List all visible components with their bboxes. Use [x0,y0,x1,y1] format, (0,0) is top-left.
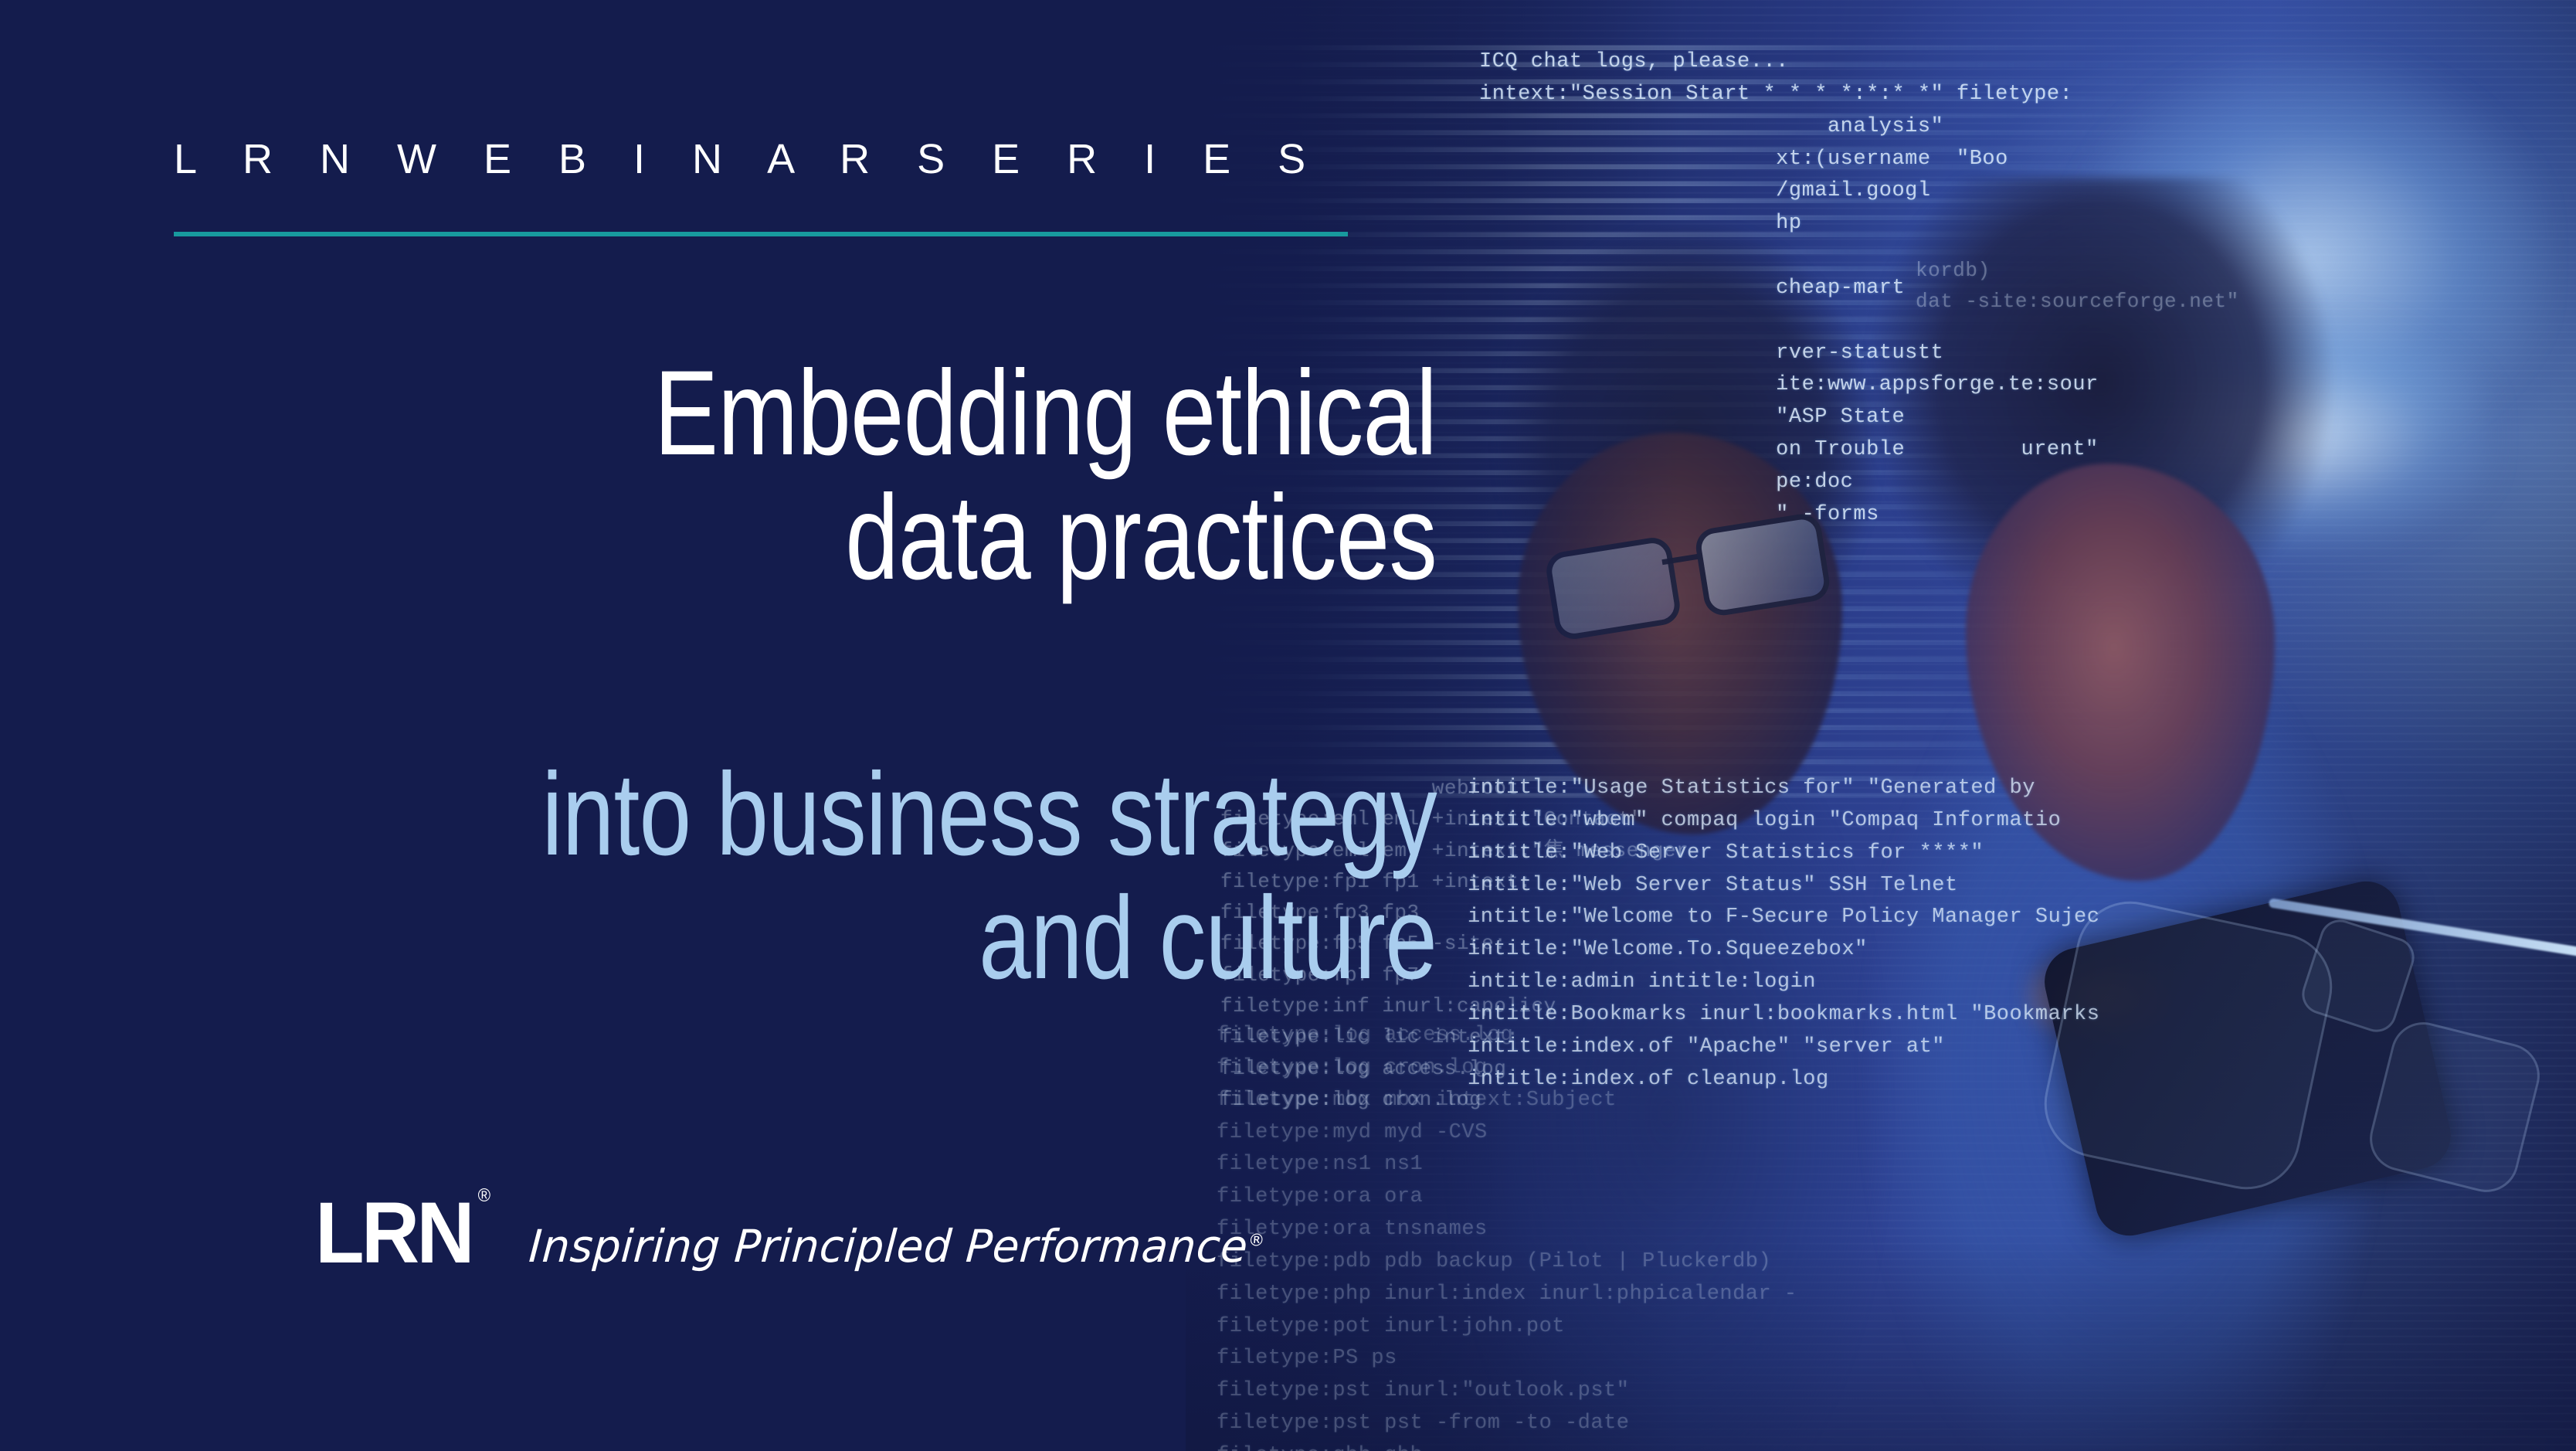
webinar-title-slide: ICQ chat logs, please... intext:"Session… [0,0,2576,1451]
page-subtitle: into business strategy and culture [349,753,1437,1000]
slide-content: L R N W E B I N A R S E R I E S Embeddin… [0,0,1437,1451]
lrn-tagline-text: Inspiring Principled Performance [528,1220,1250,1273]
page-title: Embedding ethical data practices [349,352,1437,600]
subhead-line-1: into business strategy [349,753,1437,877]
headline-line-2: data practices [349,476,1437,600]
lrn-tagline-registered-mark: ® [1247,1232,1266,1251]
lrn-wordmark-text: LRN [315,1184,472,1281]
lrn-registered-mark: ® [478,1187,490,1205]
lrn-tagline: Inspiring Principled Performance® [528,1224,1267,1276]
lrn-wordmark: LRN® [315,1190,472,1276]
eyebrow-divider-rule [174,232,1348,236]
hexagon-overlay-large [2035,892,2343,1200]
lrn-logo-lockup: LRN® Inspiring Principled Performance® [315,1190,1276,1276]
headline-line-1: Embedding ethical [349,352,1437,476]
series-eyebrow-label: L R N W E B I N A R S E R I E S [174,135,1348,183]
subhead-line-2: and culture [349,877,1437,1001]
